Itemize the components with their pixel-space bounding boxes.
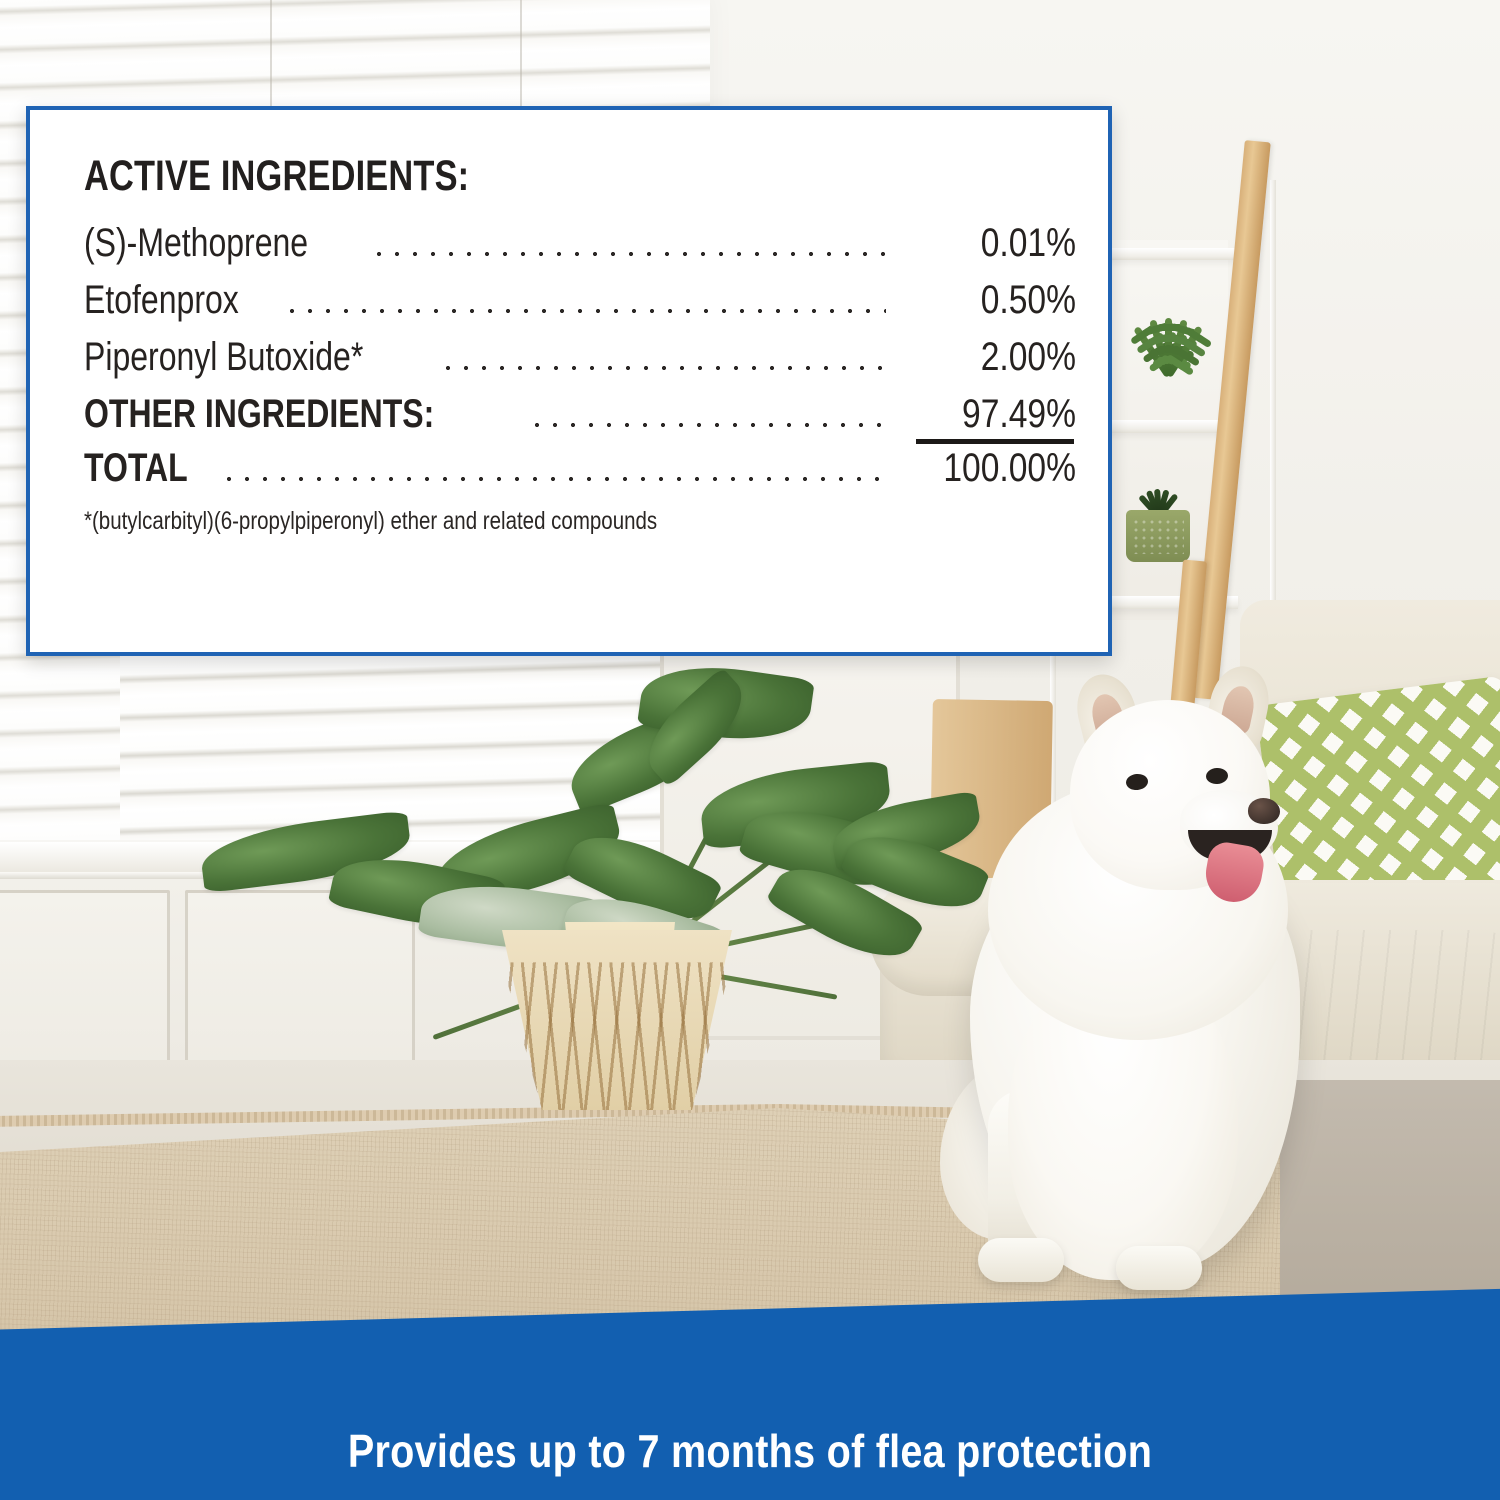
ingredients-card: ACTIVE INGREDIENTS: (S)-Methoprene 0.01%… (26, 106, 1112, 656)
total-value: 100.00% (925, 446, 1076, 491)
total-label: TOTAL (84, 446, 188, 491)
ingredient-value: 0.50% (925, 278, 1076, 323)
ingredient-value: 2.00% (925, 335, 1076, 380)
dog (930, 630, 1360, 1310)
rattan-basket (492, 930, 742, 1110)
ingredient-rows: (S)-Methoprene 0.01% Etofenprox 0.50% Pi… (84, 221, 1076, 491)
ingredient-row: Etofenprox 0.50% (84, 278, 1076, 323)
ingredient-row: Piperonyl Butoxide* 2.00% (84, 335, 1076, 380)
dot-leader (370, 251, 886, 257)
other-ingredients-value: 97.49% (925, 392, 1076, 437)
ingredient-name: (S)-Methoprene (84, 221, 308, 266)
dog-paw (978, 1238, 1064, 1282)
succulent-pot (1126, 510, 1190, 562)
fern-plant (1110, 262, 1220, 382)
total-row: TOTAL 100.00% (84, 446, 1076, 491)
other-ingredients-row: OTHER INGREDIENTS: 97.49% (84, 392, 1076, 437)
screenshot-root: ACTIVE INGREDIENTS: (S)-Methoprene 0.01%… (0, 0, 1500, 1500)
dog-paw (1116, 1246, 1202, 1290)
dot-leader (439, 365, 886, 371)
other-ingredients-label: OTHER INGREDIENTS: (84, 392, 434, 437)
card-title: ACTIVE INGREDIENTS: (84, 152, 866, 201)
dog-nose (1248, 798, 1280, 824)
dot-leader (220, 476, 886, 482)
dot-leader (528, 422, 886, 428)
ingredient-row: (S)-Methoprene 0.01% (84, 221, 1076, 266)
total-divider-rule (916, 439, 1074, 444)
dot-leader (283, 308, 886, 314)
footnote: *(butylcarbityl)(6-propylpiperonyl) ethe… (84, 507, 886, 536)
ingredient-name: Etofenprox (84, 278, 239, 323)
banner-text: Provides up to 7 months of flea protecti… (105, 1424, 1395, 1478)
ingredient-name: Piperonyl Butoxide* (84, 335, 363, 380)
shelf-upper (1092, 248, 1238, 260)
ingredient-value: 0.01% (925, 221, 1076, 266)
